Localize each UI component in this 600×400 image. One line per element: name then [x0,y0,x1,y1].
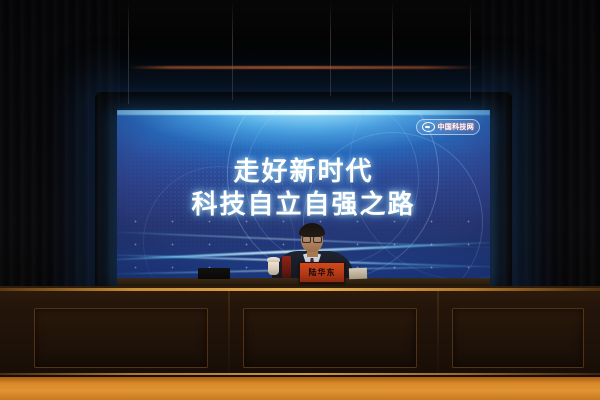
rigging-cable [330,0,331,96]
thermos [282,256,291,278]
desk-base-trim [0,373,600,375]
name-placard-text: 陆华东 [309,269,336,277]
rigging-cable [470,0,471,99]
rigging-cable [128,0,129,104]
rigging-cable [232,0,233,100]
desk-recessed-panel [34,308,208,368]
desk-recessed-panel [452,308,584,368]
speaker-hair [299,223,325,237]
teacup [268,261,279,275]
broadcaster-logo: 中国科技网 [416,119,481,135]
stage-floor [0,377,600,400]
equipment-box [198,268,230,279]
desk-gold-trim [0,288,600,291]
desk-panel-seam [228,291,230,373]
stage-photo-scene: 中国科技网 走好新时代 科技自立自强之路 陆华东 [0,0,600,400]
lighting-truss-beam [128,66,478,69]
globe-icon [422,122,435,132]
name-placard: 陆华东 [299,262,345,283]
desk-panel-seam [437,291,439,373]
paper-stack [349,268,367,280]
eyeglasses-icon [302,236,322,241]
desk-recessed-panel [243,308,417,368]
rigging-cable [392,0,393,102]
broadcaster-logo-text: 中国科技网 [438,122,475,132]
